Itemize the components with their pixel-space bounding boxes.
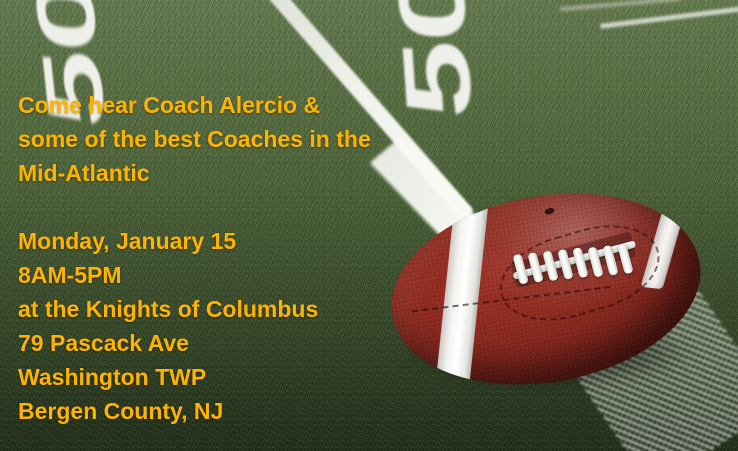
detail-line-5: Bergen County, NJ [18, 394, 371, 428]
detail-line-3: 79 Pascack Ave [18, 326, 371, 360]
poster-canvas: 50 50 Come hear Coach Alercio &some of t… [0, 0, 738, 451]
detail-line-4: Washington TWP [18, 360, 371, 394]
yard-number-right-icon: 50 [382, 0, 487, 120]
headline-line-1: some of the best Coaches in the [18, 122, 371, 156]
football-graphic [390, 196, 710, 396]
headline-block: Come hear Coach Alercio &some of the bes… [18, 88, 371, 190]
event-details-block: Monday, January 158AM-5PMat the Knights … [18, 224, 371, 428]
detail-line-1: 8AM-5PM [18, 258, 371, 292]
detail-line-2: at the Knights of Columbus [18, 292, 371, 326]
detail-line-0: Monday, January 15 [18, 224, 371, 258]
headline-line-2: Mid-Atlantic [18, 156, 371, 190]
headline-line-0: Come hear Coach Alercio & [18, 88, 371, 122]
poster-copy: Come hear Coach Alercio &some of the bes… [18, 88, 371, 428]
copy-spacer [18, 190, 371, 224]
